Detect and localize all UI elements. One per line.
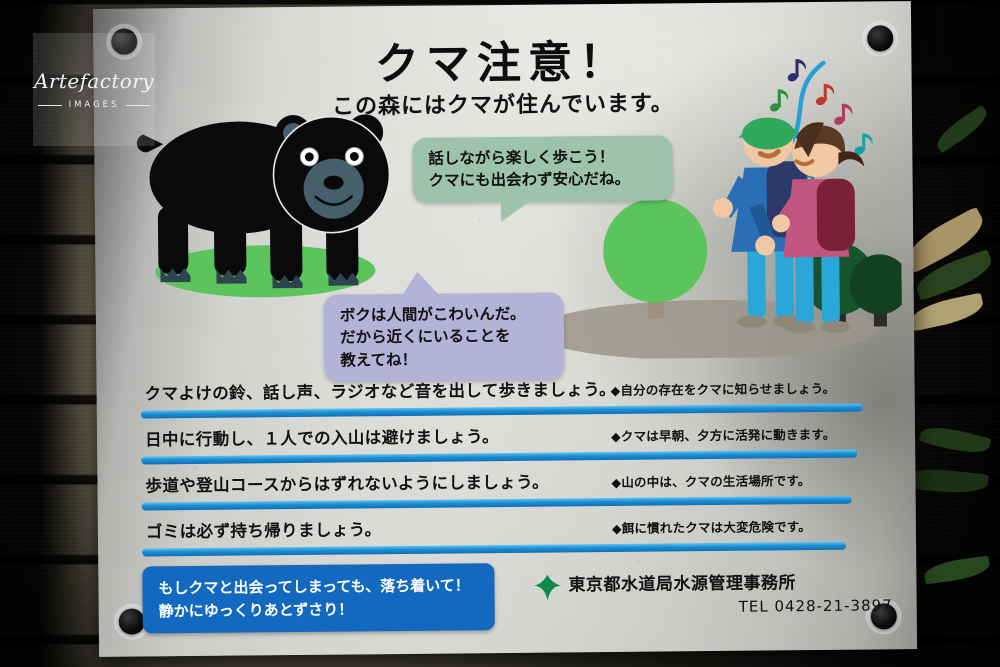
bear-eye-right-pupil <box>350 152 359 161</box>
organization-name: 東京都水道局水源管理事務所 <box>568 567 898 595</box>
tip-main-text: 日中に行動し、１人での入山は避けましょう。 <box>145 423 499 450</box>
tip-accent-bar <box>141 450 857 465</box>
organization-block: 東京都水道局水源管理事務所 TEL 0428-21-3897 <box>568 567 898 617</box>
bubble-hikers-tail <box>501 198 535 222</box>
tip-main-text: クマよけの鈴、話し声、ラジオなど音を出して歩きましょう。 <box>144 376 616 405</box>
notice-line1: もしクマと出会ってしまっても、落ち着いて！ <box>158 574 478 600</box>
watermark: Artefactory IMAGES <box>33 33 155 146</box>
notice-line2: 静かにゆっくりあとずさり！ <box>159 597 479 623</box>
tip-row: 歩道や登山コースからはずれないようにしましょう。 ◆山の中は、クマの生活場所です… <box>141 465 879 518</box>
bear-illustration <box>129 84 431 302</box>
tip-sub-text: ◆山の中は、クマの生活場所です。 <box>611 470 810 491</box>
bubble-hikers-line2: クマにも出会わず安心だね。 <box>428 168 656 193</box>
bubble-bear-line2: だから近くにいることを <box>340 325 548 349</box>
tip-main-text: 歩道や登山コースからはずれないようにしましょう。 <box>145 469 549 497</box>
watermark-name: Artefactory <box>34 69 154 93</box>
encounter-notice-box: もしクマと出会ってしまっても、落ち着いて！ 静かにゆっくりあとずさり！ <box>142 563 495 633</box>
tip-row: クマよけの鈴、話し声、ラジオなど音を出して歩きましょう。 ◆自分の存在をクマに知… <box>140 373 878 426</box>
organization-tel: TEL 0428-21-3897 <box>569 596 899 617</box>
tip-main-text: ゴミは必ず持ち帰りましょう。 <box>146 516 382 542</box>
bear-leg-rear <box>158 206 189 274</box>
speech-bubble-bear: ボクは人間がこわいんだ。 だから近くにいることを 教えてね！ <box>324 292 565 382</box>
speech-bubble-hikers: 話しながら楽しく歩こう！ クマにも出会わず安心だね。 <box>412 135 673 202</box>
hikers-illustration <box>523 56 902 360</box>
watermark-rule-right <box>126 105 150 106</box>
screenshot-scene: クマ注意！ この森にはクマが住んでいます。 <box>0 0 1000 667</box>
tip-accent-bar <box>141 404 863 419</box>
bear-eye-left-pupil <box>305 152 314 161</box>
bubble-bear-line3: 教えてね！ <box>340 348 548 372</box>
tip-row: 日中に行動し、１人での入山は避けましょう。 ◆クマは早朝、夕方に活発に動きます。 <box>141 419 879 472</box>
tokyo-waterworks-logo-icon <box>532 572 562 602</box>
tip-accent-bar <box>142 542 846 557</box>
warning-sign-board: クマ注意！ この森にはクマが住んでいます。 <box>93 1 917 657</box>
tip-sub-text: ◆餌に慣れたクマは大変危険です。 <box>612 516 811 537</box>
bubble-bear-tail <box>401 272 439 296</box>
bear-leg-rear-2 <box>214 209 247 275</box>
watermark-sub-row: IMAGES <box>38 100 151 110</box>
watermark-sub: IMAGES <box>69 100 120 110</box>
tip-sub-text: ◆クマは早朝、夕方に活発に動きます。 <box>611 424 836 445</box>
tip-row: ゴミは必ず持ち帰りましょう。 ◆餌に慣れたクマは大変危険です。 <box>142 511 880 564</box>
bubble-hikers-line1: 話しながら楽しく歩こう！ <box>428 146 656 171</box>
watermark-rule-left <box>38 105 62 106</box>
tips-list: クマよけの鈴、話し声、ラジオなど音を出して歩きましょう。 ◆自分の存在をクマに知… <box>140 373 880 564</box>
tip-accent-bar <box>142 496 852 511</box>
bolt-bottom-left <box>119 608 145 634</box>
tip-sub-text: ◆自分の存在をクマに知らせましょう。 <box>610 378 835 399</box>
bubble-bear-line1: ボクは人間がこわいんだ。 <box>340 303 548 327</box>
